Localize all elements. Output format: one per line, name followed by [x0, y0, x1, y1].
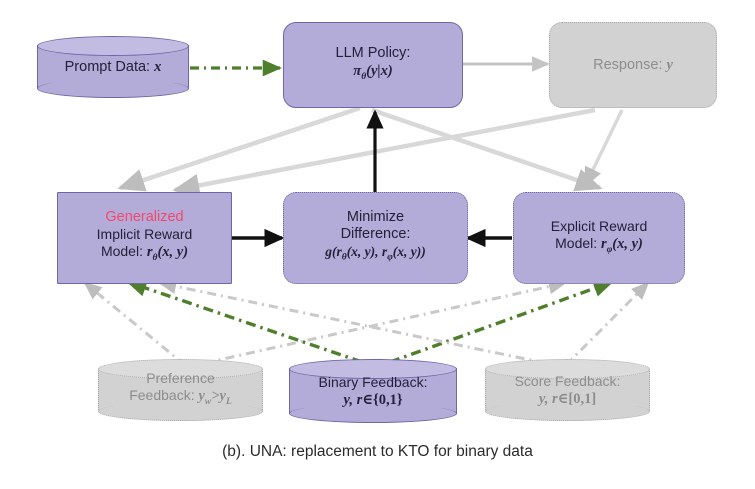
edge-binary-to-implicit-reward: [128, 282, 362, 362]
score-yr: y, r: [539, 391, 558, 407]
node-implicit-reward-model[interactable]: Generalized Implicit Reward Model: rθ(x,…: [57, 192, 232, 284]
node-preference-feedback[interactable]: Preference Feedback: yw>yL: [98, 359, 263, 421]
generalized-highlight: Generalized: [105, 209, 183, 226]
node-response[interactable]: Response: y: [549, 22, 717, 108]
node-binary-feedback[interactable]: Binary Feedback: y, r∈{0,1}: [289, 359, 457, 423]
response-math: y: [666, 57, 672, 73]
g-mid: (x, y), r: [347, 244, 388, 259]
explicit-reward-line1: Explicit Reward: [551, 218, 647, 235]
preference-prefix: Feedback:: [129, 387, 194, 403]
score-line1: Score Feedback:: [515, 373, 621, 390]
implicit-model-prefix: Model:: [101, 243, 143, 259]
edge-binary-to-explicit-reward: [390, 282, 612, 362]
edge-preference-to-implicit-reward: [85, 283, 185, 365]
implicit-reward-formula: rθ(x, y): [147, 244, 188, 260]
edge-policy-to-implicit-reward: [120, 108, 360, 188]
gt-symbol: >y: [211, 388, 226, 404]
g-end: (x, y)): [393, 244, 426, 259]
implicit-reward-line3: Model: rθ(x, y): [101, 243, 188, 267]
llm-policy-title: LLM Policy:: [336, 45, 411, 62]
prompt-data-label: Prompt Data: x: [37, 36, 189, 98]
implicit-reward-line2: Implicit Reward: [97, 226, 193, 243]
explicit-model-prefix: Model:: [555, 235, 597, 251]
minimize-line1: Minimize: [347, 209, 404, 226]
node-minimize-difference[interactable]: Minimize Difference: g(rθ(x, y), rφ(x, y…: [283, 192, 468, 284]
score-in: ∈: [558, 391, 569, 407]
node-explicit-reward-model[interactable]: Explicit Reward Model: rφ(x, y): [513, 192, 685, 284]
minimize-formula: g(rθ(x, y), rφ(x, y)): [325, 243, 425, 267]
prompt-data-text: Prompt Data:: [65, 59, 150, 75]
node-prompt-data[interactable]: Prompt Data: x: [37, 36, 189, 98]
edge-policy-crossline: [372, 110, 600, 188]
binary-formula: y, r∈{0,1}: [343, 391, 402, 409]
edge-score-to-explicit-reward: [566, 283, 648, 365]
edge-response-to-implicit-reward: [175, 110, 595, 190]
explicit-reward-line2: Model: rφ(x, y): [555, 235, 643, 259]
prompt-data-math: x: [154, 59, 161, 75]
preference-formula: yw>yL: [198, 388, 231, 404]
binary-yr: y, r: [343, 392, 362, 408]
edge-response-to-explicit-reward: [585, 110, 622, 186]
explicit-reward-formula: rφ(x, y): [601, 236, 643, 252]
llm-policy-formula: πθ(y|x): [353, 62, 392, 86]
preference-feedback-label: Preference Feedback: yw>yL: [98, 359, 263, 421]
r-args-explicit: (x, y): [612, 236, 643, 252]
r-args: (x, y): [157, 244, 188, 260]
node-llm-policy[interactable]: LLM Policy: πθ(y|x): [283, 22, 463, 108]
binary-in: ∈: [362, 392, 373, 408]
figure-canvas: Prompt Data: x LLM Policy: πθ(y|x) Respo…: [0, 0, 755, 489]
edge-preference-to-explicit-reward: [205, 283, 565, 363]
preference-line1: Preference: [146, 370, 214, 387]
response-text: Response:: [593, 57, 662, 73]
edge-score-to-implicit-reward: [160, 283, 545, 363]
node-score-feedback[interactable]: Score Feedback: y, r∈[0,1]: [485, 359, 650, 421]
minimize-line2: Difference:: [341, 226, 411, 243]
figure-caption: (b). UNA: replacement to KTO for binary …: [0, 443, 755, 461]
g-open: g(r: [325, 244, 342, 259]
pi-args: (y|x): [366, 63, 393, 79]
binary-set: {0,1}: [373, 392, 403, 408]
score-formula: y, r∈[0,1]: [539, 390, 596, 408]
binary-line1: Binary Feedback:: [319, 374, 428, 391]
score-set: [0,1]: [568, 391, 596, 407]
binary-feedback-label: Binary Feedback: y, r∈{0,1}: [289, 359, 457, 423]
response-label: Response: y: [593, 56, 673, 74]
preference-line2: Feedback: yw>yL: [129, 387, 232, 411]
score-feedback-label: Score Feedback: y, r∈[0,1]: [485, 359, 650, 421]
yl-sub: L: [226, 396, 232, 406]
